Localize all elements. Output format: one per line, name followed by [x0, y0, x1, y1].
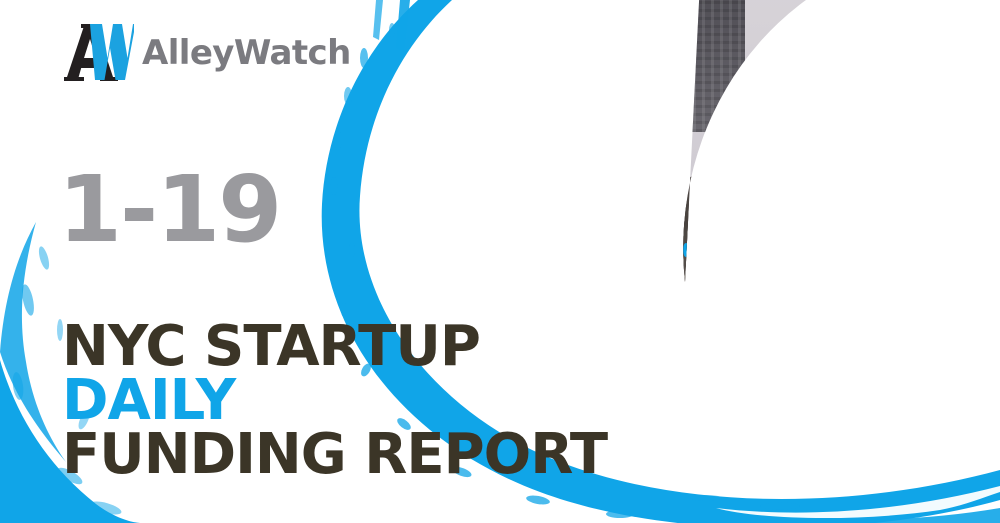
classical-stone-building: [750, 62, 940, 362]
window-grid-3: [590, 0, 675, 177]
headline-line-1: NYC STARTUP: [62, 320, 607, 374]
street-light-arm: [830, 0, 903, 16]
suv-wheel-rear: [886, 304, 909, 327]
suv-wheel-front: [754, 304, 777, 327]
bull-hoof-left: [610, 508, 670, 523]
suv-cabin: [766, 250, 898, 276]
skyscraper-3: [590, 0, 675, 177]
aw-monogram-svg: [62, 22, 134, 84]
street-light-pole: [882, 0, 899, 362]
secondary-pole: [978, 92, 989, 362]
bull-ear-left: [518, 249, 595, 308]
aw-monogram-icon: [62, 22, 134, 84]
bull-horn-left: [468, 139, 623, 316]
bull-ear-right: [698, 243, 779, 303]
bollard-2: [890, 364, 908, 450]
headline-line-3: FUNDING REPORT: [62, 428, 607, 482]
bull-hoof-right: [742, 512, 810, 523]
suv-body: [728, 268, 943, 312]
suv-windows: [776, 254, 888, 273]
street-light-head: [815, 6, 864, 26]
skyscraper-1: [480, 0, 542, 262]
bull-leg-right: [750, 400, 802, 523]
nypd-police-suv: NYPD: [728, 250, 943, 322]
bollard-1: [682, 374, 700, 460]
bull-eye-right: [681, 315, 718, 340]
alleywatch-logo[interactable]: AlleyWatch: [62, 22, 351, 84]
bull-body: [570, 197, 900, 412]
window-grid-1: [480, 0, 542, 262]
report-date: 1-19: [58, 168, 280, 253]
bull-horn-right: [683, 119, 858, 308]
monogram-letter-w: [90, 24, 134, 80]
alleywatch-wordmark: AlleyWatch: [142, 36, 351, 70]
skyscraper-2: [542, 0, 590, 212]
funding-report-poster: NYPD: [0, 0, 1000, 523]
bare-trees: [710, 42, 1000, 342]
suv-blue-stripe: [732, 286, 939, 293]
nypd-text: NYPD: [732, 294, 776, 309]
bull-leg-left: [618, 414, 664, 522]
headline-line-2: DAILY: [62, 374, 607, 428]
bull-nostril-left: [606, 411, 638, 436]
bull-hump: [660, 160, 860, 280]
suv-decal: [806, 295, 858, 309]
report-headline: NYC STARTUP DAILY FUNDING REPORT: [62, 320, 607, 481]
window-grid-2: [542, 0, 590, 212]
bull-nostril-right: [652, 411, 684, 436]
